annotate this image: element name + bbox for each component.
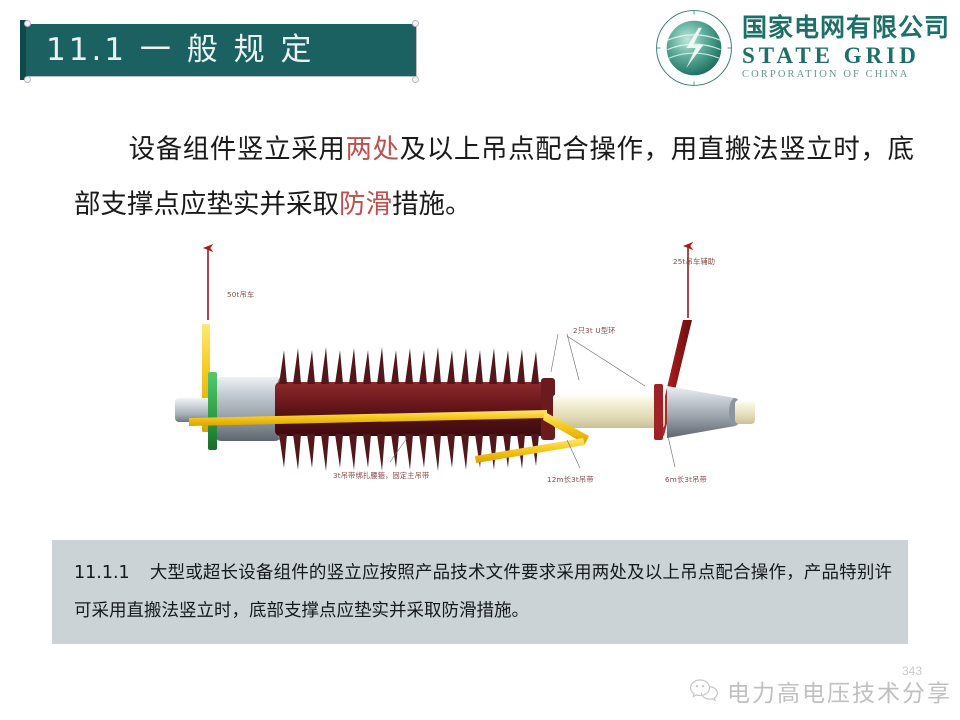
crane-assist-label: 25t吊车辅助: [673, 257, 715, 267]
selection-handle[interactable]: [24, 20, 31, 27]
lift-direction-arrows: [208, 246, 688, 320]
insulator-sheds-top: [279, 347, 539, 384]
clause-quote-box: 11.1.1大型或超长设备组件的竖立应按照产品技术文件要求采用两处及以上吊点配合…: [52, 540, 908, 644]
green-flange-plate: [208, 372, 217, 450]
tail-sling-label: 6m长3t吊带: [665, 475, 707, 485]
diagram-svg: [175, 232, 815, 522]
clause-body: 大型或超长设备组件的竖立应按照产品技术文件要求采用两处及以上吊点配合操作，产品特…: [74, 563, 892, 621]
selection-handle[interactable]: [412, 20, 419, 27]
clause-number: 11.1.1: [74, 563, 130, 583]
slide-canvas: 11.1 一 般 规 定: [0, 0, 960, 720]
right-cone-assembly: [667, 386, 755, 438]
crane-main-label: 50t吊车: [227, 290, 254, 300]
logo-company-en: STATE GRID: [742, 43, 950, 68]
state-grid-logo: 国家电网有限公司 STATE GRID CORPORATION OF CHINA: [655, 8, 950, 88]
logo-company-cn: 国家电网有限公司: [742, 15, 950, 41]
state-grid-emblem: [655, 9, 733, 87]
logo-text-block: 国家电网有限公司 STATE GRID CORPORATION OF CHINA: [742, 15, 950, 80]
main-sling-label: 12m长3t吊带: [547, 475, 594, 485]
body-seg-3-highlight: 防滑: [339, 189, 392, 220]
selection-handle[interactable]: [24, 76, 31, 83]
red-collar-ring: [654, 384, 663, 440]
equipment-lifting-diagram: 50t吊车 25t吊车辅助 2只3t U型环 3t吊带绑扎腰箍，固定主吊带 12…: [175, 232, 815, 522]
u-shackle-label: 2只3t U型环: [573, 326, 616, 336]
page-title: 11.1 一 般 规 定: [46, 28, 406, 72]
selection-handle[interactable]: [412, 76, 419, 83]
body-paragraph: 设备组件竖立采用两处及以上吊点配合操作，用直搬法竖立时，底部支撑点应垫实并采取防…: [74, 122, 914, 232]
wechat-icon: [689, 678, 719, 704]
body-seg-1-highlight: 两处: [345, 134, 399, 165]
body-seg-4: 措施。: [392, 189, 472, 220]
logo-company-sub: CORPORATION OF CHINA: [742, 69, 950, 81]
clause-quote-text: 11.1.1大型或超长设备组件的竖立应按照产品技术文件要求采用两处及以上吊点配合…: [74, 554, 892, 630]
left-terminal-assembly: [175, 372, 287, 450]
watermark-text: 电力高电压技术分享: [727, 674, 952, 708]
waist-sling-label: 3t吊带绑扎腰箍，固定主吊带: [333, 471, 429, 481]
wechat-watermark: 电力高电压技术分享: [689, 674, 952, 708]
body-seg-0: 设备组件竖立采用: [128, 134, 345, 165]
